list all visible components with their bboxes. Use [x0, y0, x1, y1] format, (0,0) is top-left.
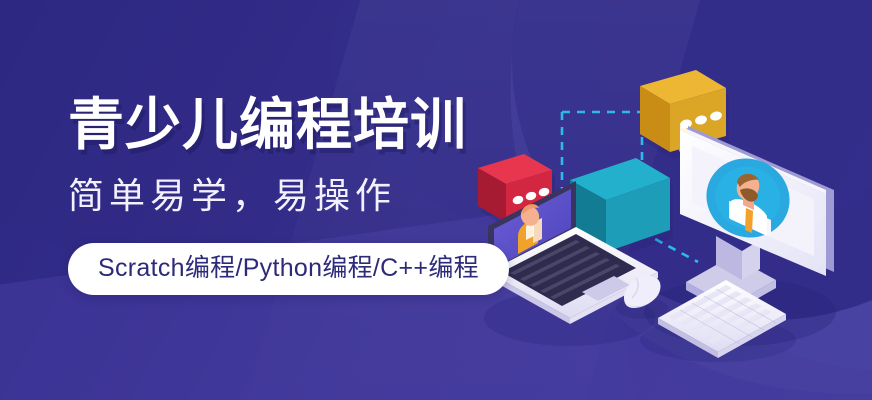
banner-subtitle: 简单易学，易操作 [68, 174, 488, 217]
illustration [430, 40, 872, 380]
page-title: 青少儿编程培训 [68, 96, 488, 154]
course-list-badge: Scratch编程/Python编程/C++编程 [68, 243, 509, 295]
promo-banner: 青少儿编程培训 简单易学，易操作 Scratch编程/Python编程/C++编… [0, 0, 872, 400]
banner-copy: 青少儿编程培训 简单易学，易操作 Scratch编程/Python编程/C++编… [68, 96, 488, 295]
